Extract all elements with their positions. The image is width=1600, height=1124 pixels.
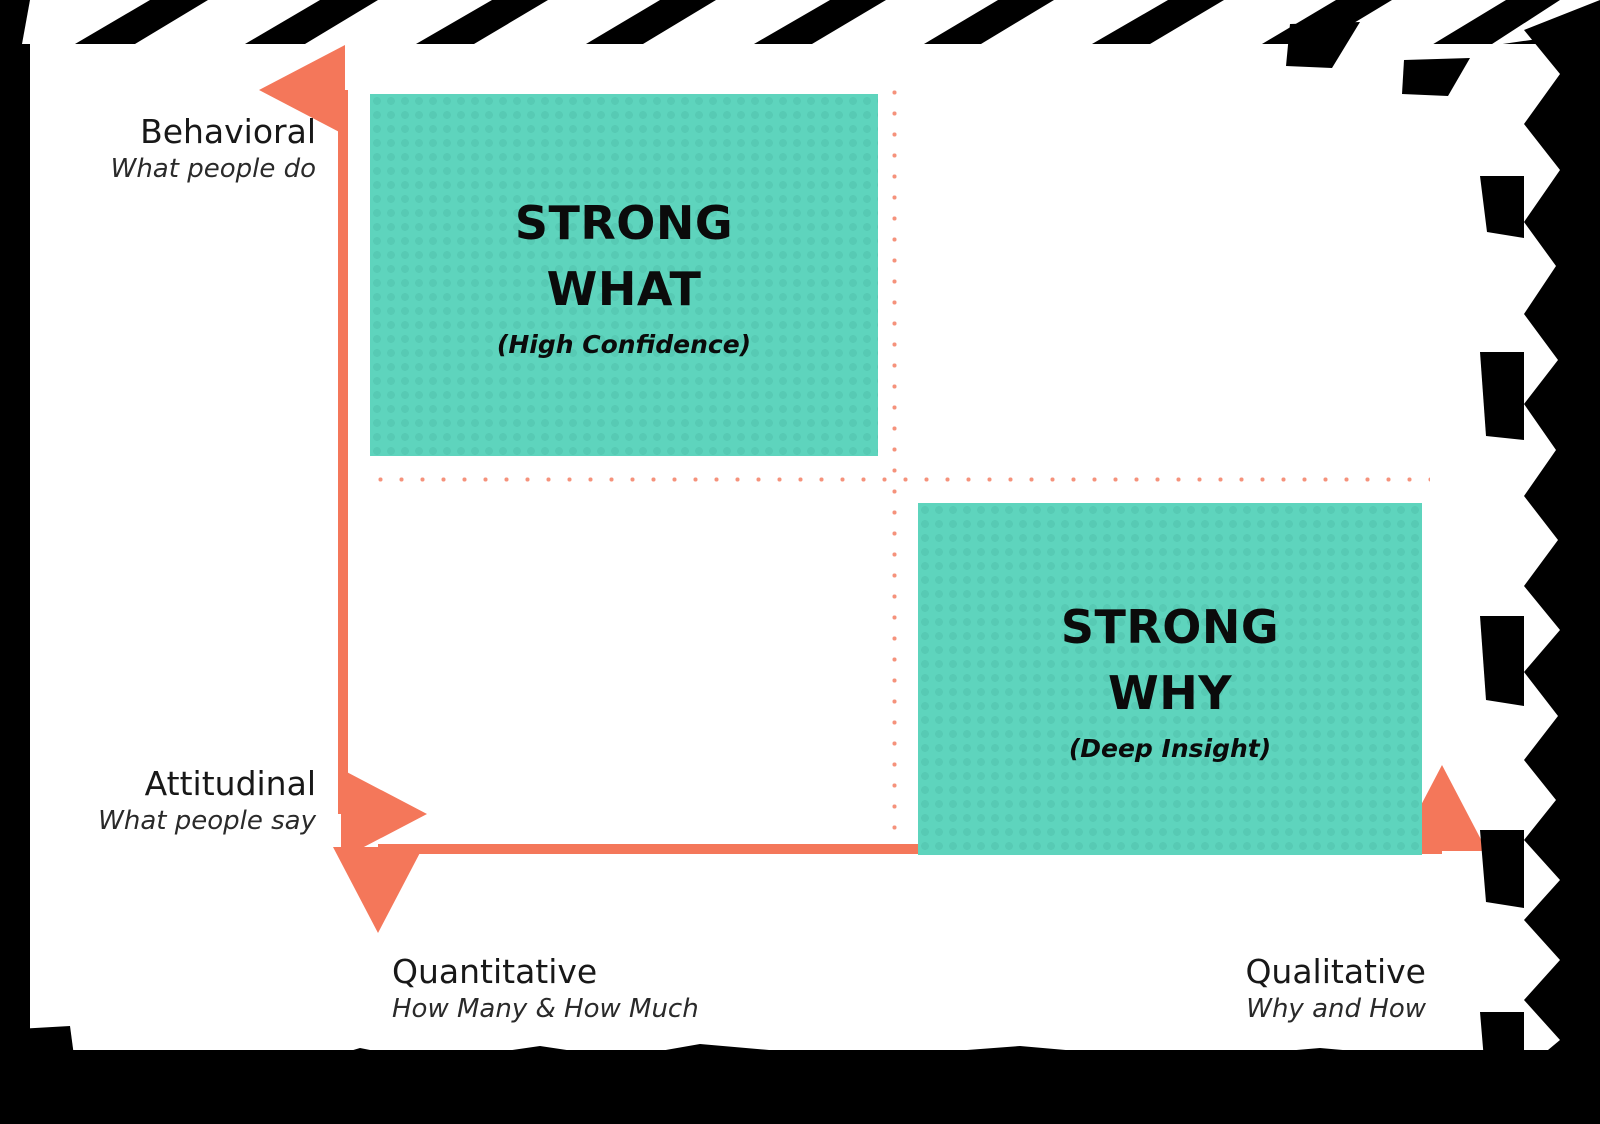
axis-label-qualitative-subtitle: Why and How <box>1245 994 1426 1025</box>
slide-canvas: STRONG WHAT (High Confidence) STRONG WHY… <box>0 0 1600 1124</box>
axis-label-behavioral: Behavioral What people do <box>66 114 316 185</box>
quadrant-plot-area: STRONG WHAT (High Confidence) STRONG WHY… <box>30 44 1570 1050</box>
quadrant-strong-what[interactable]: STRONG WHAT (High Confidence) <box>370 94 878 456</box>
axis-label-qualitative: Qualitative Why and How <box>1245 954 1426 1025</box>
axis-label-qualitative-title: Qualitative <box>1245 954 1426 991</box>
axis-label-quantitative-subtitle: How Many & How Much <box>392 994 699 1025</box>
axis-label-attitudinal-subtitle: What people say <box>66 806 316 837</box>
quadrant-title-line1: STRONG <box>515 191 733 256</box>
axis-label-attitudinal-title: Attitudinal <box>66 766 316 803</box>
quadrant-title-line2: WHY <box>1108 661 1232 726</box>
axis-label-attitudinal: Attitudinal What people say <box>66 766 316 837</box>
quadrant-subtitle: (High Confidence) <box>497 330 751 359</box>
axis-label-behavioral-title: Behavioral <box>66 114 316 151</box>
quadrant-subtitle: (Deep Insight) <box>1069 734 1271 763</box>
axis-label-quantitative: Quantitative How Many & How Much <box>392 954 699 1025</box>
quadrant-title-line1: STRONG <box>1061 595 1279 660</box>
quadrant-strong-why[interactable]: STRONG WHY (Deep Insight) <box>918 503 1422 855</box>
axis-label-quantitative-title: Quantitative <box>392 954 699 991</box>
matrix-canvas: STRONG WHAT (High Confidence) STRONG WHY… <box>30 44 1570 1050</box>
axis-label-behavioral-subtitle: What people do <box>66 154 316 185</box>
quadrant-title-line2: WHAT <box>547 257 702 322</box>
